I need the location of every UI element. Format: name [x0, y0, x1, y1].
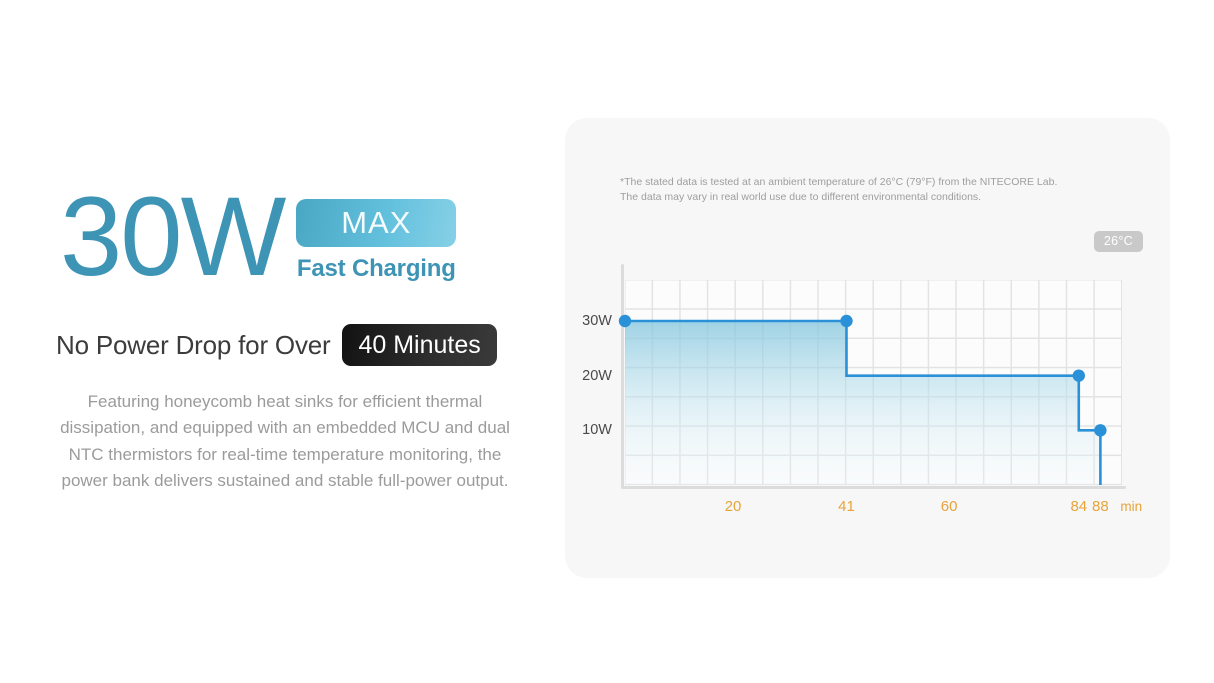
- max-badge: MAX: [296, 199, 456, 247]
- y-tick-label-0: 30W: [582, 313, 612, 329]
- data-point-marker-2: [1073, 369, 1085, 381]
- page-root: 30W MAX Fast Charging No Power Drop for …: [0, 0, 1214, 683]
- body-paragraph: Featuring honeycomb heat sinks for effic…: [52, 389, 518, 494]
- x-tick-label-0: 20: [725, 498, 742, 515]
- x-tick-label-2: 60: [941, 498, 958, 515]
- chart-panel: *The stated data is tested at an ambient…: [565, 118, 1170, 578]
- x-axis-unit-label: min: [1120, 499, 1142, 514]
- y-tick-label-2: 10W: [582, 422, 612, 438]
- subhead-row: No Power Drop for Over 40 Minutes: [56, 322, 526, 368]
- x-tick-label-3: 84: [1070, 498, 1087, 515]
- marketing-column: 30W MAX Fast Charging No Power Drop for …: [0, 0, 560, 683]
- data-point-marker-0: [619, 315, 631, 327]
- y-tick-label-1: 20W: [582, 368, 612, 384]
- watt-value-heading: 30W: [60, 185, 284, 288]
- x-tick-label-4: 88: [1092, 498, 1109, 515]
- chart-area-fill: [625, 321, 1100, 485]
- plot-area: 30W20W10W 2041608488 min: [621, 264, 1126, 489]
- x-tick-label-1: 41: [838, 498, 855, 515]
- data-point-marker-3: [1094, 424, 1106, 436]
- temperature-badge: 26°C: [1094, 231, 1143, 252]
- subhead-text: No Power Drop for Over: [56, 330, 330, 361]
- chart-series-svg: [621, 264, 1126, 489]
- max-badge-stack: MAX Fast Charging: [296, 199, 456, 283]
- minutes-badge: 40 Minutes: [342, 324, 496, 366]
- fast-charging-label: Fast Charging: [297, 255, 456, 283]
- headline-row: 30W MAX Fast Charging: [60, 185, 530, 295]
- data-point-marker-1: [840, 315, 852, 327]
- disclaimer-text: *The stated data is tested at an ambient…: [620, 175, 1140, 205]
